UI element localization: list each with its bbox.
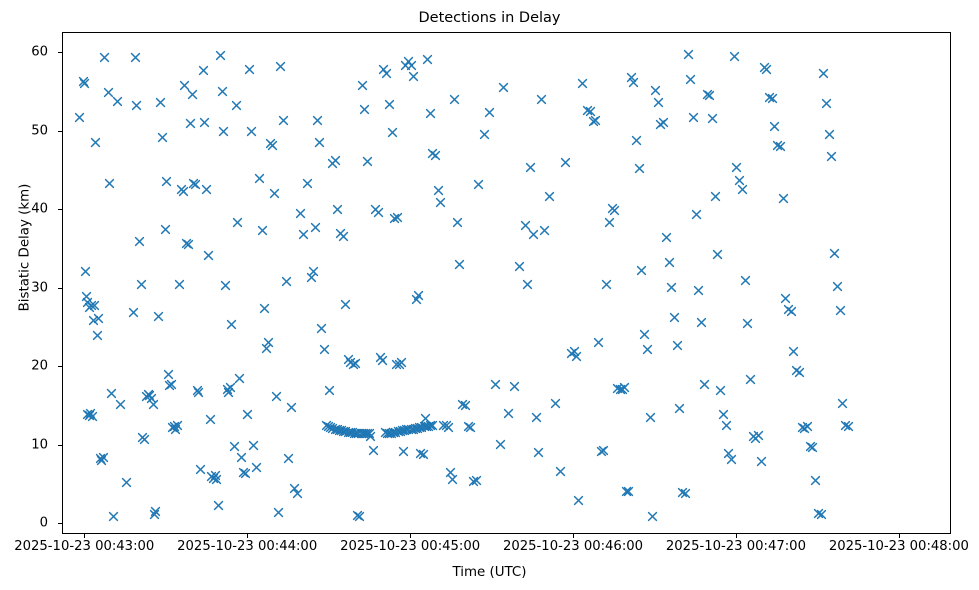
scatter-point (617, 384, 628, 395)
scatter-point (198, 65, 209, 76)
scatter-point (628, 77, 639, 88)
x-tick-mark (736, 534, 737, 538)
scatter-point (715, 385, 726, 396)
scatter-point (447, 474, 458, 485)
scatter-point (130, 52, 141, 63)
scatter-point (454, 259, 465, 270)
x-axis-label: Time (UTC) (0, 565, 979, 580)
scatter-point (685, 74, 696, 85)
scatter-point (509, 381, 520, 392)
scatter-point (821, 98, 832, 109)
scatter-point (80, 266, 91, 277)
scatter-point (623, 486, 634, 497)
scatter-point (149, 509, 160, 520)
scatter-point (359, 104, 370, 115)
scatter-point (403, 56, 414, 67)
scatter-point (704, 90, 715, 101)
scatter-point (362, 428, 373, 439)
scatter-point (104, 178, 115, 189)
scatter-point (400, 60, 411, 71)
scatter-point (223, 387, 234, 398)
scatter-point (150, 506, 161, 517)
scatter-point (338, 426, 349, 437)
scatter-point (412, 423, 423, 434)
scatter-point (479, 129, 490, 140)
scatter-point (729, 51, 740, 62)
plot-axes (62, 32, 951, 534)
scatter-point (384, 428, 395, 439)
scatter-point (327, 158, 338, 169)
scatter-point (406, 424, 417, 435)
scatter-point (438, 420, 449, 431)
scatter-point (688, 112, 699, 123)
scatter-point (666, 282, 677, 293)
scatter-point (176, 184, 187, 195)
scatter-point (254, 173, 265, 184)
scatter-point (163, 369, 174, 380)
scatter-point (136, 279, 147, 290)
scatter-point (167, 422, 178, 433)
scatter-point (81, 291, 92, 302)
scatter-point (340, 426, 351, 437)
scatter-point (267, 140, 278, 151)
scatter-point (401, 424, 412, 435)
scatter-point (324, 385, 335, 396)
scatter-point (381, 68, 392, 79)
scatter-point (388, 427, 399, 438)
scatter-point (86, 300, 97, 311)
scatter-point (824, 129, 835, 140)
scatter-point (411, 294, 422, 305)
scatter-point (251, 462, 262, 473)
scatter-point (423, 421, 434, 432)
scatter-point (425, 108, 436, 119)
y-axis-label: Bistatic Delay (km) (18, 118, 33, 378)
scatter-point (653, 97, 664, 108)
scatter-point (146, 393, 157, 404)
scatter-point (218, 126, 229, 137)
scatter-point (338, 231, 349, 242)
scatter-point (236, 452, 247, 463)
scatter-point (843, 421, 854, 432)
scatter-point (631, 135, 642, 146)
scatter-point (421, 421, 432, 432)
scatter-point (621, 486, 632, 497)
scatter-point (422, 54, 433, 65)
scatter-point (295, 208, 306, 219)
scatter-point (93, 313, 104, 324)
scatter-point (353, 428, 364, 439)
scatter-point (560, 157, 571, 168)
scatter-point (188, 178, 199, 189)
scatter-point (226, 319, 237, 330)
scatter-point (217, 86, 228, 97)
scatter-point (242, 409, 253, 420)
scatter-point (573, 495, 584, 506)
scatter-point (691, 209, 702, 220)
scatter-point (172, 420, 183, 431)
scatter-point (582, 105, 593, 116)
scatter-point (148, 399, 159, 410)
scatter-point (222, 384, 233, 395)
scatter-point (141, 391, 152, 402)
scatter-point (345, 427, 356, 438)
scatter-point (783, 304, 794, 315)
scatter-point (742, 318, 753, 329)
scatter-point (375, 352, 386, 363)
scatter-point (669, 312, 680, 323)
scatter-point (213, 500, 224, 511)
x-tick-label: 2025-10-23 00:47:00 (666, 539, 806, 554)
x-tick-mark (899, 534, 900, 538)
scatter-point (601, 279, 612, 290)
scatter-point (410, 423, 421, 434)
scatter-point (265, 138, 276, 149)
scatter-point (365, 431, 376, 442)
scatter-point (604, 217, 615, 228)
scatter-point (336, 425, 347, 436)
scatter-point (185, 118, 196, 129)
scatter-point (139, 434, 150, 445)
matplotlib-figure: Detections in Delay 2025-10-23 00:43:002… (0, 0, 979, 590)
scatter-point (797, 422, 808, 433)
scatter-point (208, 473, 219, 484)
scatter-point (192, 385, 203, 396)
scatter-point (593, 337, 604, 348)
scatter-point (244, 64, 255, 75)
scatter-point (677, 487, 688, 498)
scatter-point (203, 250, 214, 261)
scatter-point (199, 117, 210, 128)
scatter-point (174, 279, 185, 290)
scatter-point (419, 421, 430, 432)
scatter-point (596, 446, 607, 457)
scatter-point (433, 185, 444, 196)
scatter-point (772, 140, 783, 151)
x-tick-label: 2025-10-23 00:44:00 (177, 539, 317, 554)
scatter-point (211, 474, 222, 485)
scatter-point (178, 186, 189, 197)
scatter-point (115, 399, 126, 410)
scatter-point (134, 236, 145, 247)
scatter-point (356, 428, 367, 439)
scatter-point (310, 222, 321, 233)
scatter-point (220, 280, 231, 291)
scatter-point (495, 439, 506, 450)
scatter-point (121, 477, 132, 488)
scatter-point (626, 72, 637, 83)
scatter-point (92, 330, 103, 341)
scatter-point (87, 411, 98, 422)
scatter-point (696, 317, 707, 328)
scatter-point (555, 466, 566, 477)
scatter-point (240, 468, 251, 479)
scatter-point (259, 303, 270, 314)
scatter-point (598, 445, 609, 456)
y-tick-label: 0 (8, 516, 48, 531)
scatter-point (634, 163, 645, 174)
scatter-point (813, 508, 824, 519)
scatter-point (193, 387, 204, 398)
scatter-point (816, 509, 827, 520)
scatter-point (215, 50, 226, 61)
scatter-point (539, 225, 550, 236)
scatter-point (378, 64, 389, 75)
x-tick-label: 2025-10-23 00:48:00 (829, 539, 969, 554)
scatter-point (490, 379, 501, 390)
scatter-point (397, 425, 408, 436)
scatter-point (413, 290, 424, 301)
scatter-point (503, 408, 514, 419)
scatter-point (769, 121, 780, 132)
scatter-point (585, 106, 596, 117)
scatter-point (674, 403, 685, 414)
scatter-point (414, 422, 425, 433)
x-tick-label: 2025-10-23 00:43:00 (14, 539, 154, 554)
scatter-point (103, 87, 114, 98)
scatter-point (323, 421, 334, 432)
scatter-point (306, 272, 317, 283)
scatter-point (460, 400, 471, 411)
scatter-point (607, 203, 618, 214)
scatter-point (707, 113, 718, 124)
scatter-point (403, 424, 414, 435)
y-tick-mark (58, 209, 62, 210)
scatter-point (82, 297, 93, 308)
x-tick-label: 2025-10-23 00:45:00 (340, 539, 480, 554)
scatter-point (144, 390, 155, 401)
scatter-point (263, 337, 274, 348)
scatter-point (153, 311, 164, 322)
scatter-point (387, 127, 398, 138)
x-tick-mark (573, 534, 574, 538)
scatter-point (427, 148, 438, 159)
scatter-point (639, 329, 650, 340)
scatter-point (721, 420, 732, 431)
scatter-point (468, 476, 479, 487)
scatter-point (350, 358, 361, 369)
y-tick-label: 60 (8, 45, 48, 60)
scatter-point (550, 398, 561, 409)
y-tick-mark (58, 366, 62, 367)
scatter-point (723, 448, 734, 459)
scatter-point (748, 431, 759, 442)
scatter-point (128, 307, 139, 318)
scatter-point (775, 141, 786, 152)
scatter-point (390, 427, 401, 438)
scatter-point (802, 421, 813, 432)
scatter-point (308, 266, 319, 277)
scatter-point (85, 408, 96, 419)
scatter-point (443, 422, 454, 433)
scatter-point (835, 305, 846, 316)
scatter-point (96, 455, 107, 466)
scatter-point (325, 422, 336, 433)
x-tick-mark (410, 534, 411, 538)
scatter-point (799, 423, 810, 434)
scatter-point (566, 348, 577, 359)
x-tick-mark (84, 534, 85, 538)
scatter-point (90, 137, 101, 148)
scatter-series (63, 33, 950, 533)
scatter-point (590, 115, 601, 126)
scatter-point (826, 151, 837, 162)
scatter-point (137, 432, 148, 443)
scatter-point (354, 511, 365, 522)
scatter-point (718, 409, 729, 420)
scatter-point (164, 380, 175, 391)
scatter-point (108, 511, 119, 522)
scatter-point (281, 276, 292, 287)
scatter-point (206, 471, 217, 482)
scatter-point (406, 60, 417, 71)
scatter-point (278, 115, 289, 126)
scatter-point (78, 76, 89, 87)
scatter-point (327, 423, 338, 434)
scatter-point (418, 449, 429, 460)
scatter-point (544, 191, 555, 202)
scatter-point (391, 359, 402, 370)
scatter-point (745, 374, 756, 385)
scatter-point (396, 357, 407, 368)
scatter-point (157, 132, 168, 143)
scatter-point (645, 412, 656, 423)
scatter-point (99, 52, 110, 63)
scatter-point (425, 420, 436, 431)
y-tick-mark (58, 288, 62, 289)
scatter-point (761, 64, 772, 75)
scatter-point (319, 344, 330, 355)
scatter-point (231, 100, 242, 111)
scatter-point (161, 176, 172, 187)
scatter-point (187, 89, 198, 100)
scatter-point (531, 412, 542, 423)
scatter-point (609, 205, 620, 216)
scatter-point (394, 359, 405, 370)
scatter-point (232, 217, 243, 228)
scatter-point (416, 422, 427, 433)
scatter-point (352, 510, 363, 521)
scatter-point (84, 410, 95, 421)
scatter-point (408, 71, 419, 82)
scatter-point (343, 427, 354, 438)
scatter-point (680, 488, 691, 499)
scatter-point (393, 426, 404, 437)
scatter-point (88, 315, 99, 326)
page-title: Detections in Delay (0, 10, 979, 26)
scatter-point (636, 265, 647, 276)
scatter-point (430, 150, 441, 161)
scatter-point (332, 424, 343, 435)
scatter-point (536, 94, 547, 105)
scatter-point (225, 382, 236, 393)
scatter-point (734, 175, 745, 186)
scatter-point (740, 275, 751, 286)
scatter-point (275, 61, 286, 72)
scatter-point (382, 428, 393, 439)
scatter-point (384, 99, 395, 110)
scatter-point (767, 93, 778, 104)
scatter-point (271, 391, 282, 402)
scatter-point (672, 340, 683, 351)
y-tick-mark (58, 131, 62, 132)
scatter-point (98, 452, 109, 463)
scatter-point (238, 467, 249, 478)
scatter-point (335, 228, 346, 239)
scatter-point (183, 239, 194, 250)
scatter-point (408, 424, 419, 435)
scatter-point (664, 257, 675, 268)
scatter-point (471, 475, 482, 486)
y-tick-mark (58, 523, 62, 524)
scatter-point (473, 179, 484, 190)
scatter-point (257, 225, 268, 236)
scatter-point (435, 197, 446, 208)
scatter-point (201, 184, 212, 195)
scatter-point (699, 379, 710, 390)
scatter-point (74, 112, 85, 123)
scatter-point (818, 68, 829, 79)
scatter-point (106, 388, 117, 399)
scatter-point (79, 78, 90, 89)
scatter-point (498, 82, 509, 93)
scatter-point (420, 413, 431, 424)
scatter-point (737, 184, 748, 195)
scatter-point (484, 107, 495, 118)
scatter-point (525, 162, 536, 173)
scatter-point (89, 300, 100, 311)
scatter-point (357, 80, 368, 91)
scatter-point (360, 428, 371, 439)
scatter-point (514, 261, 525, 272)
scatter-point (348, 359, 359, 370)
scatter-point (205, 414, 216, 425)
scatter-point (373, 207, 384, 218)
scatter-point (702, 89, 713, 100)
scatter-point (248, 440, 259, 451)
scatter-point (370, 204, 381, 215)
scatter-point (179, 80, 190, 91)
scatter-point (612, 383, 623, 394)
scatter-point (332, 204, 343, 215)
scatter-point (655, 119, 666, 130)
scatter-point (364, 428, 375, 439)
scatter-point (533, 447, 544, 458)
scatter-point (351, 428, 362, 439)
scatter-point (788, 346, 799, 357)
scatter-point (642, 344, 653, 355)
scatter-point (756, 456, 767, 467)
scatter-point (520, 220, 531, 231)
scatter-point (528, 229, 539, 240)
scatter-point (377, 355, 388, 366)
x-tick-mark (247, 534, 248, 538)
scatter-point (131, 100, 142, 111)
scatter-point (807, 442, 818, 453)
scatter-point (246, 126, 257, 137)
scatter-point (658, 117, 669, 128)
scatter-point (837, 398, 848, 409)
scatter-point (362, 156, 373, 167)
scatter-point (522, 279, 533, 290)
scatter-point (330, 424, 341, 435)
scatter-point (195, 464, 206, 475)
scatter-point (389, 213, 400, 224)
scatter-point (190, 179, 201, 190)
scatter-point (292, 488, 303, 499)
scatter-point (347, 427, 358, 438)
scatter-point (358, 428, 369, 439)
